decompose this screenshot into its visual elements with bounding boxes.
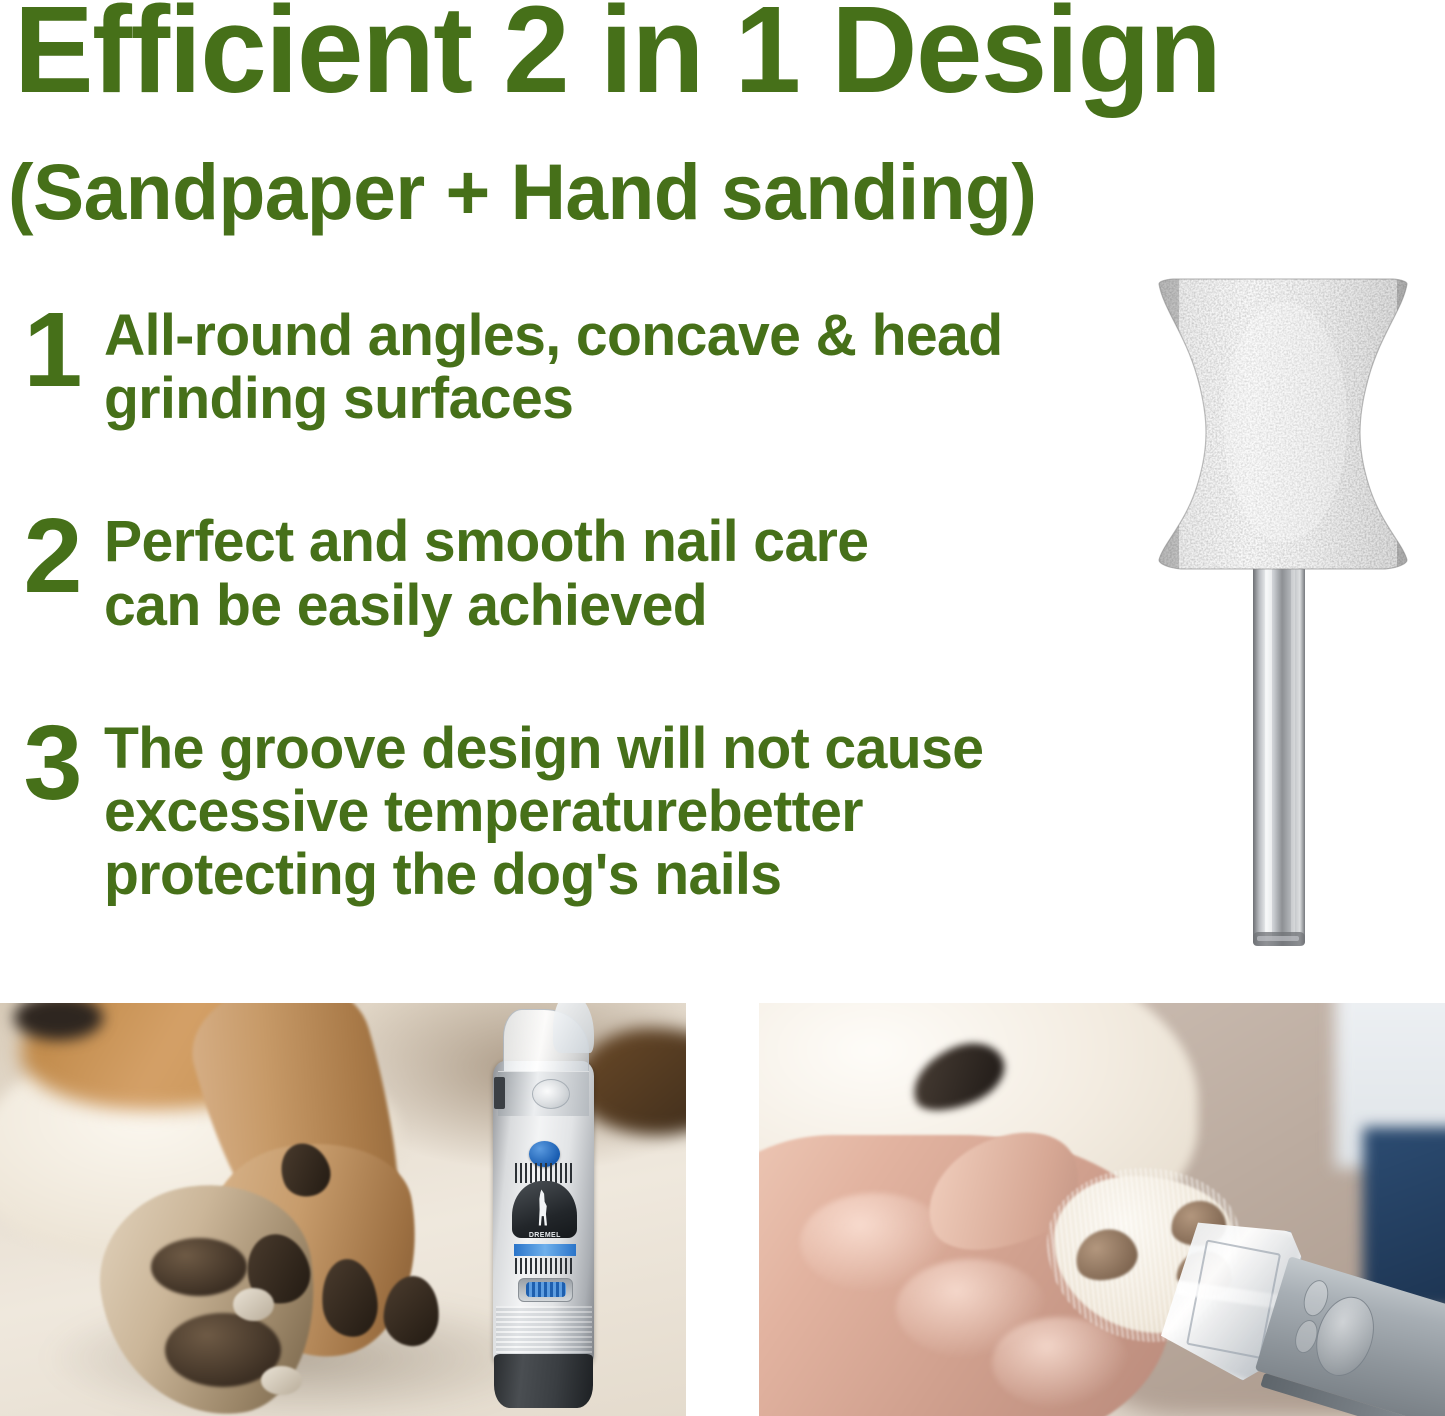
nail-grinder-tool: DREMEL [484,1009,604,1410]
tool-vents-bottom [515,1258,575,1274]
feature-line: All-round angles, concave & head [104,304,1075,367]
feature-text-1: All-round angles, concave & head grindin… [104,296,1075,430]
feature-item-3: 3 The groove design will not cause exces… [0,709,1090,907]
tool-base [494,1354,592,1408]
feature-line: can be easily achieved [104,574,1075,637]
tool-brand-label: DREMEL [512,1232,577,1239]
tool-vents-top [515,1163,575,1183]
feature-text-3: The groove design will not cause excessi… [104,709,1075,907]
feature-number-3: 3 [0,709,104,813]
feature-line: The groove design will not cause [104,717,1075,780]
feature-number-1: 1 [0,296,104,400]
page-title: Efficient 2 in 1 Design [14,0,1220,116]
feature-list: 1 All-round angles, concave & head grind… [0,296,1090,907]
feature-item-1: 1 All-round angles, concave & head grind… [0,296,1090,430]
bit-grinding-head [1145,272,1435,582]
paw-pad [151,1238,247,1296]
bit-shaft [1253,554,1305,946]
tool-accent-bar [514,1244,576,1257]
grinding-bit-illustration [1145,272,1435,952]
photo-dog-paws-with-grinder: DREMEL [0,1003,686,1416]
photo-hand-grinding-dog-nail [759,1003,1445,1416]
feature-item-2: 2 Perfect and smooth nail care can be ea… [0,502,1090,636]
paw-print-icon [532,1079,570,1109]
feature-text-2: Perfect and smooth nail care can be easi… [104,502,1075,636]
grinding-bit-svg [1145,272,1435,952]
tool-port [494,1077,505,1109]
page-subtitle: (Sandpaper + Hand sanding) [8,150,1036,234]
feature-number-2: 2 [0,502,104,606]
feature-line: excessive temperaturebetter [104,780,1075,843]
feature-line: grinding surfaces [104,367,1075,430]
tool-guard-fin [553,1003,594,1053]
dog-claw [261,1366,302,1395]
tool-speed-switch [518,1278,573,1302]
feature-line: Perfect and smooth nail care [104,510,1075,573]
feature-line: protecting the dog's nails [104,843,1075,906]
